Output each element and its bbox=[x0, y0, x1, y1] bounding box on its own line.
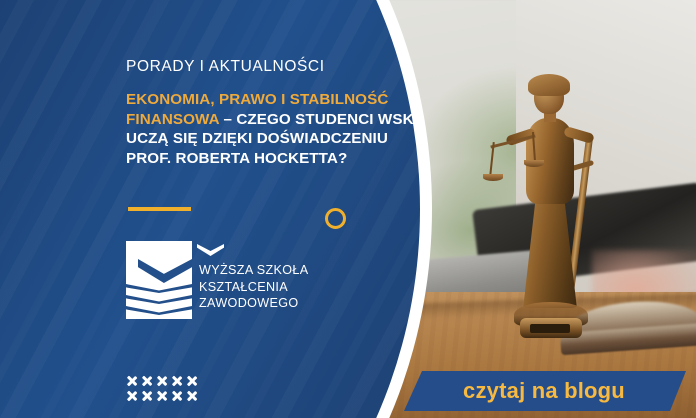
x-mark bbox=[126, 375, 138, 387]
x-decoration-pattern bbox=[126, 375, 198, 402]
lady-justice-statue bbox=[498, 78, 618, 346]
gold-ring-icon bbox=[325, 208, 346, 229]
wskz-logo[interactable]: WYŻSZA SZKOŁA KSZTAŁCENIA ZAWODOWEGO bbox=[126, 241, 356, 321]
x-mark bbox=[141, 375, 153, 387]
panel-content: PORADY I AKTUALNOŚCI EKONOMIA, PRAWO I S… bbox=[0, 0, 440, 418]
statue-scales-pan-left bbox=[483, 174, 503, 181]
logo-square bbox=[126, 241, 192, 319]
x-mark bbox=[156, 390, 168, 402]
x-mark bbox=[126, 390, 138, 402]
category-kicker: PORADY I AKTUALNOŚCI bbox=[126, 58, 325, 76]
x-mark bbox=[186, 390, 198, 402]
x-mark bbox=[156, 375, 168, 387]
logo-bird-icon bbox=[197, 244, 224, 256]
x-mark bbox=[186, 375, 198, 387]
logo-line-3: ZAWODOWEGO bbox=[199, 295, 309, 312]
read-on-blog-button[interactable]: czytaj na blogu bbox=[404, 371, 686, 411]
x-mark bbox=[171, 375, 183, 387]
headline: EKONOMIA, PRAWO I STABILNOŚĆ FINANSOWA –… bbox=[126, 90, 436, 168]
open-book-bird-icon bbox=[126, 241, 192, 319]
gold-rule-divider bbox=[128, 207, 191, 211]
x-mark bbox=[171, 390, 183, 402]
logo-wordmark: WYŻSZA SZKOŁA KSZTAŁCENIA ZAWODOWEGO bbox=[199, 262, 309, 312]
blog-promo-banner: PORADY I AKTUALNOŚCI EKONOMIA, PRAWO I S… bbox=[0, 0, 696, 418]
logo-line-1: WYŻSZA SZKOŁA bbox=[199, 262, 309, 279]
logo-line-2: KSZTAŁCENIA bbox=[199, 279, 309, 296]
statue-base-plaque bbox=[530, 324, 570, 333]
read-on-blog-label: czytaj na blogu bbox=[463, 378, 627, 404]
statue-hair bbox=[528, 74, 570, 96]
x-mark bbox=[141, 390, 153, 402]
statue-scales-pan-right bbox=[524, 160, 544, 167]
